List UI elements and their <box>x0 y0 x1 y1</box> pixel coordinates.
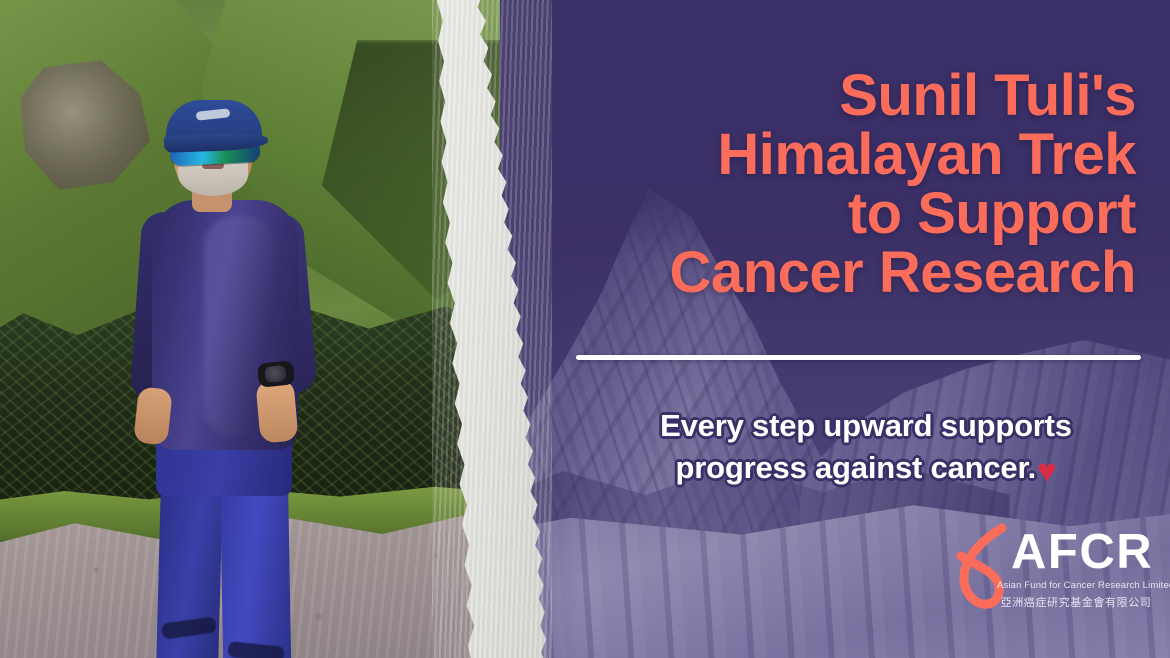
promo-banner: Sunil Tuli's Himalayan Trek to Support C… <box>0 0 1170 658</box>
subtitle-line-2-text: progress against cancer. <box>676 450 1036 485</box>
headline: Sunil Tuli's Himalayan Trek to Support C… <box>576 66 1136 303</box>
headline-line-2: Himalayan Trek <box>576 125 1136 184</box>
headline-line-4: Cancer Research <box>576 243 1136 302</box>
afcr-logo: AFCR Asian Fund for Cancer Research Limi… <box>955 520 1155 622</box>
subtitle-line-2: progress against cancer.♥ <box>570 447 1162 493</box>
afcr-tagline-en: Asian Fund for Cancer Research Limited <box>997 580 1155 591</box>
divider-rule <box>576 355 1141 360</box>
subtitle: Every step upward supports progress agai… <box>570 405 1162 493</box>
trekker-left-hand <box>133 386 173 445</box>
headline-line-3: to Support <box>576 184 1136 243</box>
trekker-wristwatch-face <box>264 365 287 383</box>
subtitle-line-1: Every step upward supports <box>570 405 1162 447</box>
trekker-right-hand <box>255 378 298 443</box>
trekker-photo <box>0 0 500 658</box>
heart-icon: ♥ <box>1037 449 1056 493</box>
trekker-figure <box>118 88 328 658</box>
headline-line-1: Sunil Tuli's <box>576 66 1136 125</box>
afcr-wordmark: AFCR <box>1011 528 1153 577</box>
afcr-tagline-zh: 亞洲癌症研究基金會有限公司 <box>997 594 1155 610</box>
